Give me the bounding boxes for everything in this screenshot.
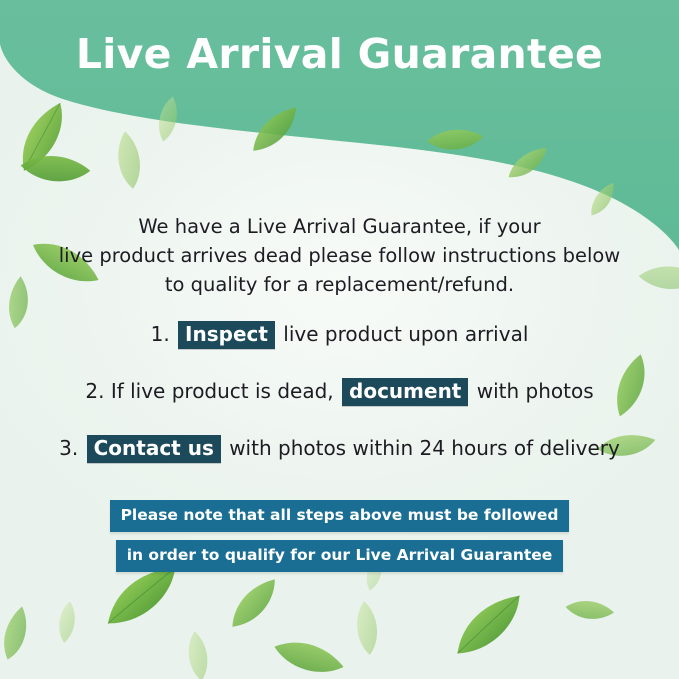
intro-line-3: to quality for a replacement/refund. (0, 270, 679, 299)
step-item-1: 1. Inspect live product upon arrival (0, 320, 679, 349)
notice-line-1: Please note that all steps above must be… (110, 500, 570, 532)
intro-paragraph: We have a Live Arrival Guarantee, if you… (0, 212, 679, 299)
page-title: Live Arrival Guarantee (0, 30, 679, 78)
step-number-1: 1. (151, 322, 170, 346)
step-number-3: 3. (59, 436, 78, 460)
notice-banner: Please note that all steps above must be… (0, 500, 679, 572)
step-highlight-inspect: Inspect (178, 321, 275, 349)
step-text-2-after: with photos (477, 379, 594, 403)
step-item-3: 3. Contact us with photos within 24 hour… (0, 434, 679, 463)
intro-line-1: We have a Live Arrival Guarantee, if you… (0, 212, 679, 241)
poster-canvas: Live Arrival Guarantee (0, 0, 679, 679)
step-text-2-before: If live product is dead, (111, 379, 334, 403)
step-text-1-after: live product upon arrival (283, 322, 528, 346)
intro-line-2: live product arrives dead please follow … (0, 241, 679, 270)
poster-content: We have a Live Arrival Guarantee, if you… (0, 0, 679, 679)
step-number-2: 2. (85, 379, 104, 403)
step-highlight-document: document (342, 378, 468, 406)
step-highlight-contact-us: Contact us (87, 435, 221, 463)
step-item-2: 2. If live product is dead, document wit… (0, 377, 679, 406)
step-text-3-after: with photos within 24 hours of delivery (229, 436, 620, 460)
notice-line-2: in order to qualify for our Live Arrival… (116, 540, 564, 572)
steps-list: 1. Inspect live product upon arrival 2. … (0, 320, 679, 491)
